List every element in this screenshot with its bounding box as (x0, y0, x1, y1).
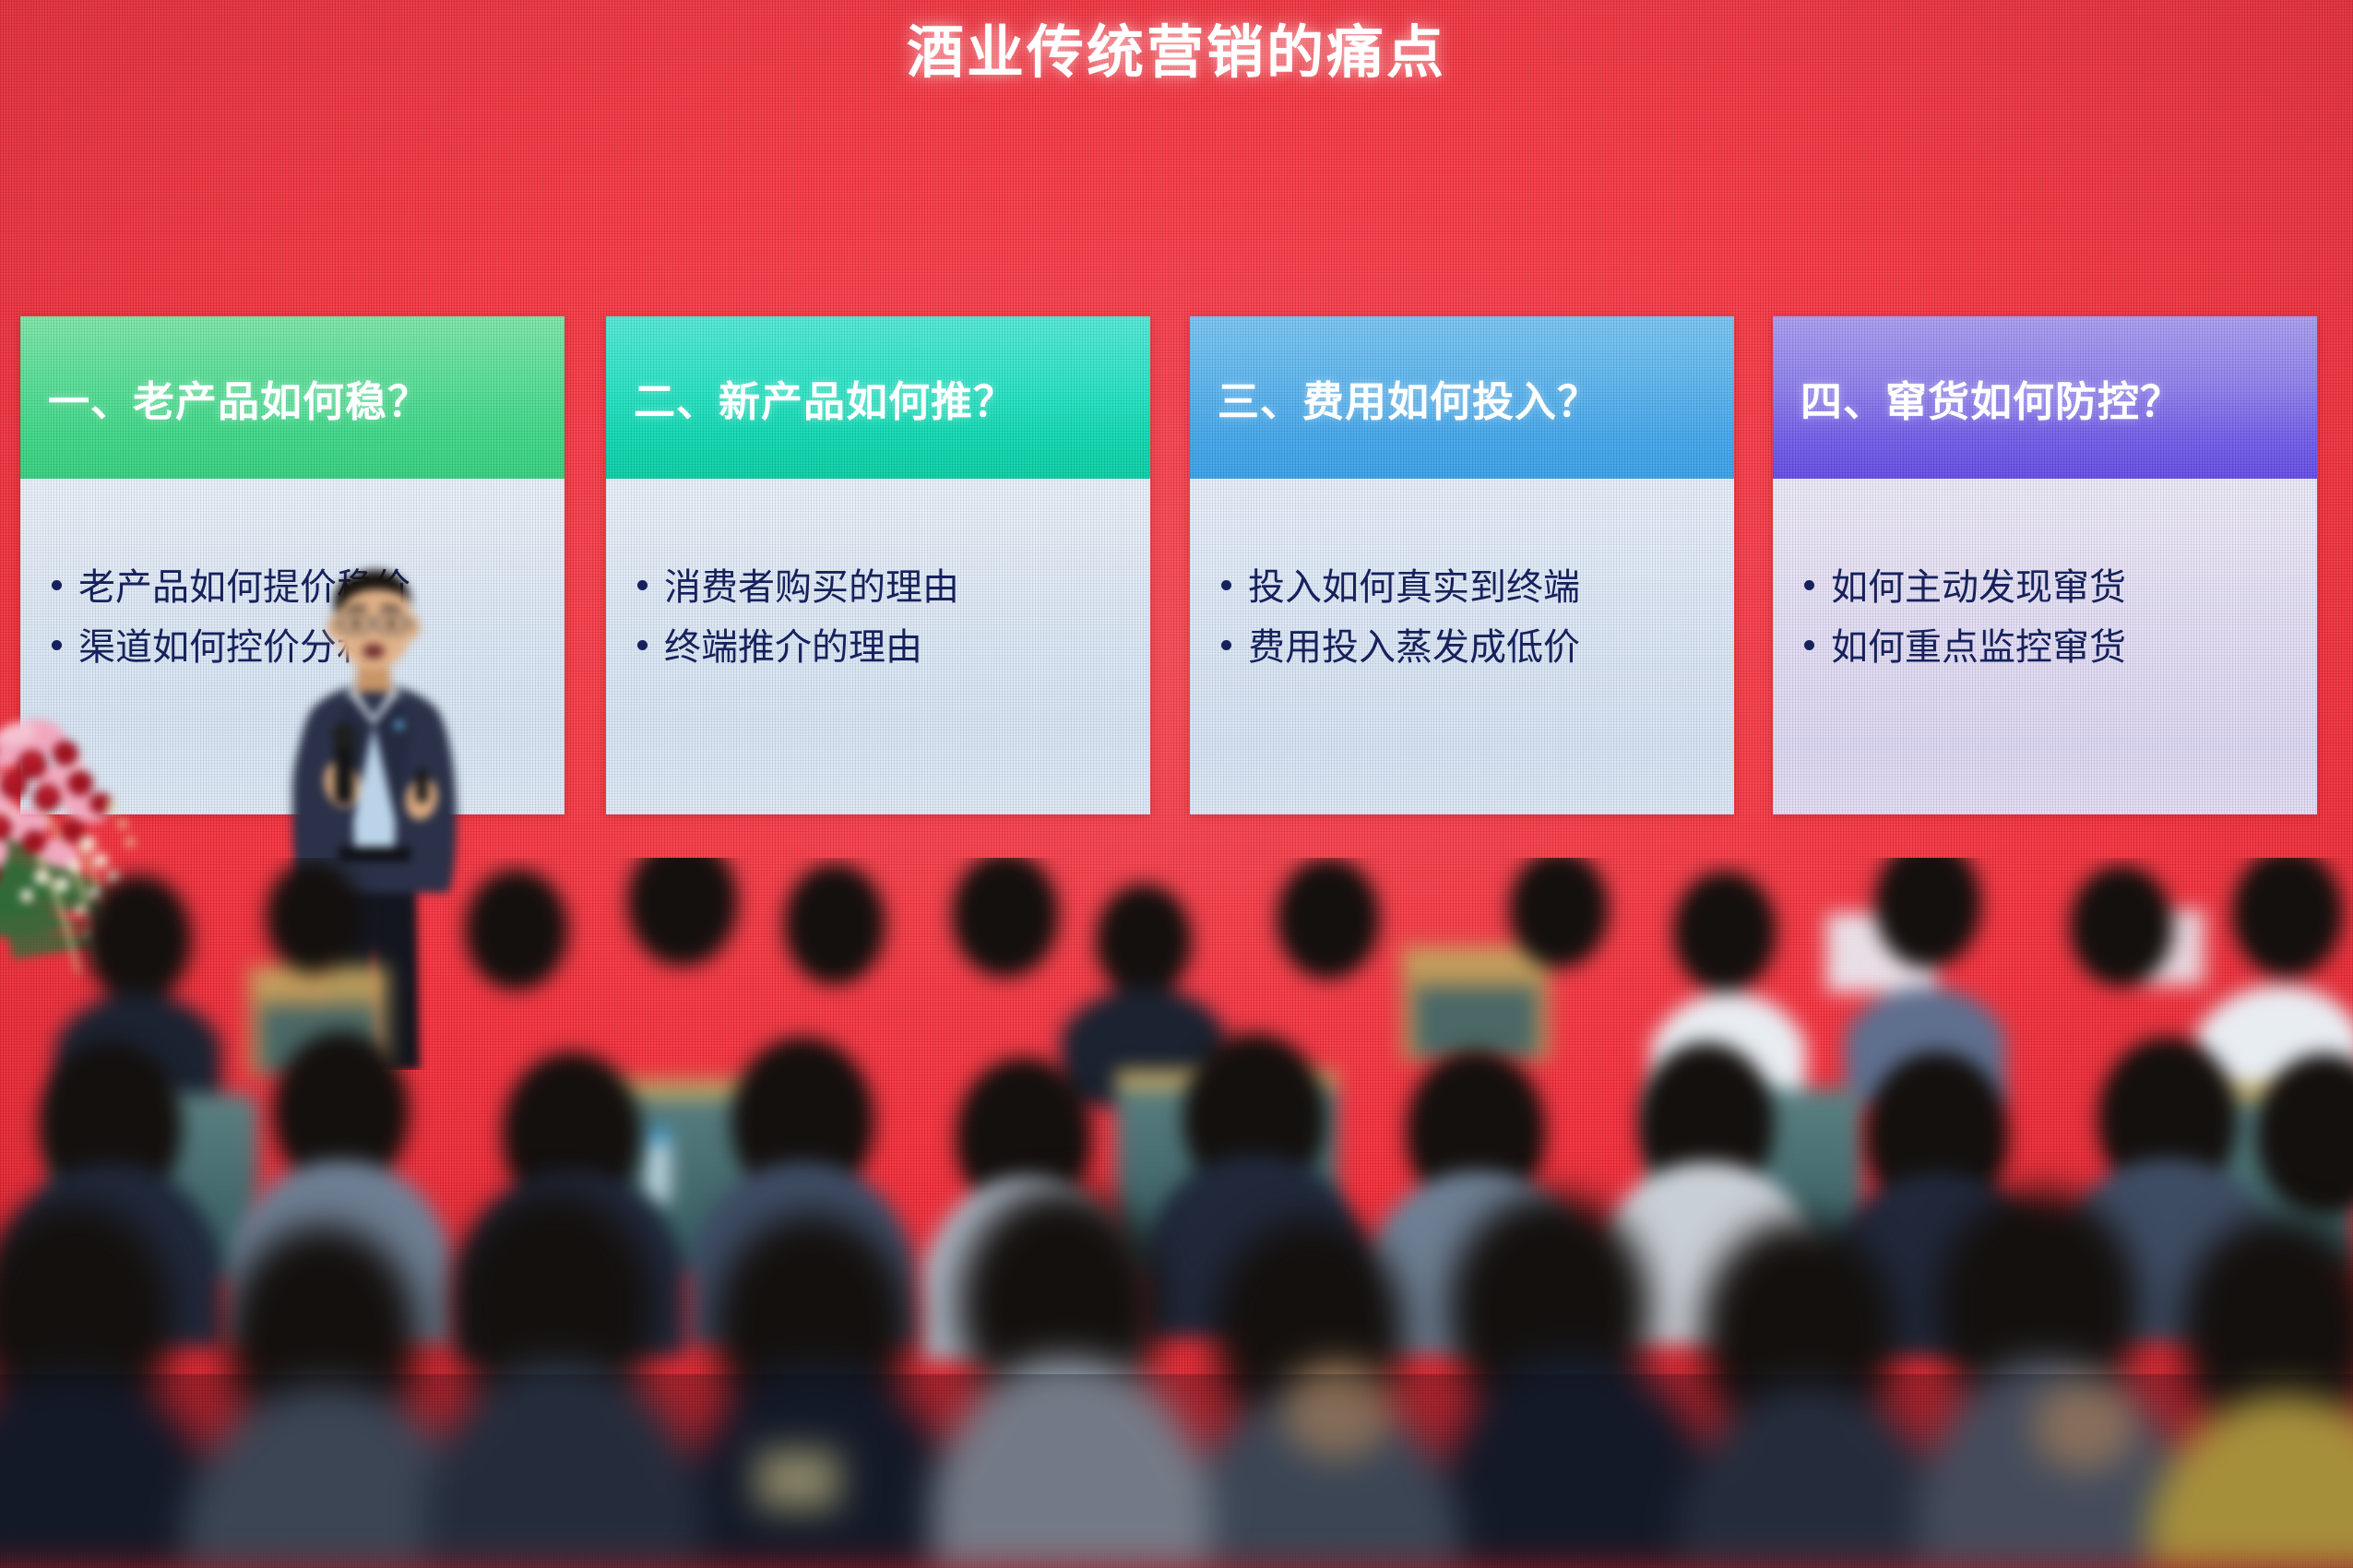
bullet-dot-icon (1221, 580, 1231, 590)
card-heading-1: 一、老产品如何稳？ (20, 368, 430, 428)
bullet-dot-icon (637, 580, 648, 590)
page-title: 酒业传统营销的痛点 (0, 6, 2353, 89)
bullet-text: 如何重点监控窜货 (1831, 618, 2126, 678)
bullet-list-2: 消费者购买的理由 终端推介的理由 (606, 558, 1150, 678)
audience-seating (0, 858, 2353, 1568)
card-header-1: 一、老产品如何稳？ (20, 316, 564, 479)
list-item: 投入如何真实到终端 (1221, 558, 1734, 618)
bullet-text: 费用投入蒸发成低价 (1248, 618, 1580, 678)
card-body-3: 投入如何真实到终端 费用投入蒸发成低价 (1190, 479, 1734, 814)
card-header-4: 四、窜货如何防控？ (1773, 316, 2317, 479)
card-header-3: 三、费用如何投入？ (1190, 316, 1734, 479)
list-item: 如何重点监控窜货 (1804, 618, 2317, 678)
list-item: 费用投入蒸发成低价 (1221, 618, 1734, 678)
bullet-dot-icon (52, 640, 62, 650)
card-body-2: 消费者购买的理由 终端推介的理由 (606, 479, 1150, 814)
bullet-list-4: 如何主动发现窜货 如何重点监控窜货 (1773, 558, 2317, 678)
card-body-4: 如何主动发现窜货 如何重点监控窜货 (1773, 479, 2317, 814)
bullet-text: 终端推介的理由 (664, 618, 922, 678)
bullet-dot-icon (637, 640, 648, 650)
card-heading-4: 四、窜货如何防控？ (1773, 368, 2182, 428)
bullet-text: 消费者购买的理由 (664, 558, 959, 618)
bullet-text: 如何主动发现窜货 (1831, 558, 2126, 618)
bullet-text: 投入如何真实到终端 (1248, 558, 1580, 618)
conference-photo: 酒业传统营销的痛点 一、老产品如何稳？ 老产品如何提价稳价 渠道如何控价分利 二… (0, 0, 2353, 1568)
bullet-dot-icon (1221, 640, 1231, 650)
pain-point-card-4: 四、窜货如何防控？ 如何主动发现窜货 如何重点监控窜货 (1773, 316, 2317, 814)
bullet-dot-icon (1804, 640, 1814, 650)
pain-point-card-2: 二、新产品如何推？ 消费者购买的理由 终端推介的理由 (606, 316, 1150, 814)
pain-point-card-3: 三、费用如何投入？ 投入如何真实到终端 费用投入蒸发成低价 (1190, 316, 1734, 814)
card-header-2: 二、新产品如何推？ (606, 316, 1150, 479)
bullet-dot-icon (52, 580, 62, 590)
list-item: 终端推介的理由 (637, 618, 1150, 678)
card-heading-2: 二、新产品如何推？ (606, 368, 1016, 428)
bullet-list-3: 投入如何真实到终端 费用投入蒸发成低价 (1190, 558, 1734, 678)
list-item: 消费者购买的理由 (637, 558, 1150, 618)
list-item: 如何主动发现窜货 (1804, 558, 2317, 618)
card-heading-3: 三、费用如何投入？ (1190, 368, 1599, 428)
bullet-dot-icon (1804, 580, 1814, 590)
